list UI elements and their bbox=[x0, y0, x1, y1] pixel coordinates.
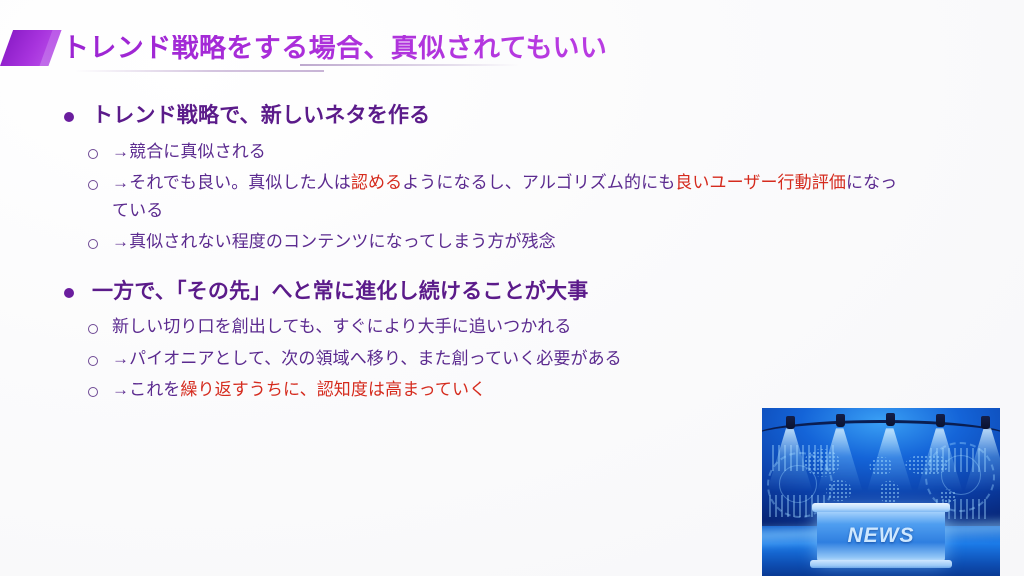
sub-bullet-label: →これを繰り返すうちに、認知度は高まっていく bbox=[112, 376, 486, 404]
sub-bullet-item: →競合に真似される bbox=[58, 138, 958, 166]
sub-bullet-item: →真似されない程度のコンテンツになってしまう方が残念 bbox=[58, 228, 958, 256]
sub-bullet-item: →パイオニアとして、次の領域へ移り、また創っていく必要がある bbox=[58, 345, 958, 373]
sub-bullet-label: 新しい切り口を創出しても、すぐにより大手に追いつかれる bbox=[112, 313, 572, 341]
sub-bullet-ring-icon bbox=[88, 387, 98, 397]
bullet-group-1: トレンド戦略で、新しいネタを作る →競合に真似される →それでも良い。真似した人… bbox=[58, 100, 958, 256]
spotlight-lamp-icon bbox=[786, 416, 795, 429]
sub-bullet-ring-icon bbox=[88, 324, 98, 334]
bullet-heading: 一方で、「その先」へと常に進化し続けることが大事 bbox=[58, 276, 958, 308]
bullet-group-2: 一方で、「その先」へと常に進化し続けることが大事 新しい切り口を創出しても、すぐ… bbox=[58, 276, 958, 404]
bullet-heading-label: 一方で、「その先」へと常に進化し続けることが大事 bbox=[92, 276, 588, 308]
sub-bullet-label: →それでも良い。真似した人は認めるようになるし、アルゴリズム的にも良いユーザー行… bbox=[112, 169, 902, 224]
title-accent-mark bbox=[0, 28, 60, 68]
sub-bullet-item: →それでも良い。真似した人は認めるようになるし、アルゴリズム的にも良いユーザー行… bbox=[58, 169, 958, 224]
bullet-dot-icon bbox=[64, 112, 74, 122]
news-desk: NEWS bbox=[817, 507, 946, 564]
slide-body: トレンド戦略で、新しいネタを作る →競合に真似される →それでも良い。真似した人… bbox=[58, 100, 958, 408]
spotlight-lamp-icon bbox=[836, 414, 845, 427]
sub-bullet-ring-icon bbox=[88, 180, 98, 190]
spotlight-lamp-icon bbox=[936, 414, 945, 427]
sub-bullet-item: →これを繰り返すうちに、認知度は高まっていく bbox=[58, 376, 958, 404]
sub-bullet-ring-icon bbox=[88, 356, 98, 366]
bullet-dot-icon bbox=[64, 288, 74, 298]
news-desk-caption: NEWS bbox=[817, 507, 946, 564]
page-title: トレンド戦略をする場合、真似されてもいい bbox=[62, 35, 607, 62]
bullet-heading: トレンド戦略で、新しいネタを作る bbox=[58, 100, 958, 132]
slide-title-row: トレンド戦略をする場合、真似されてもいい bbox=[0, 22, 1024, 74]
sub-bullet-label: →競合に真似される bbox=[112, 138, 266, 166]
highlight-text: 繰り返すうちに、認知度は高まっていく bbox=[180, 380, 486, 399]
sub-bullet-label: →パイオニアとして、次の領域へ移り、また創っていく必要がある bbox=[112, 345, 622, 373]
highlight-text: 良いユーザー行動評価 bbox=[675, 173, 846, 192]
spotlight-lamp-icon bbox=[981, 416, 990, 429]
title-underline-right bbox=[300, 64, 520, 66]
spotlight-lamp-icon bbox=[886, 413, 895, 426]
slide-canvas: トレンド戦略をする場合、真似されてもいい トレンド戦略で、新しいネタを作る →競… bbox=[0, 0, 1024, 576]
sub-bullet-ring-icon bbox=[88, 149, 98, 159]
news-studio-image: NEWS bbox=[762, 408, 1000, 576]
bullet-heading-label: トレンド戦略で、新しいネタを作る bbox=[92, 100, 430, 132]
sub-bullet-item: 新しい切り口を創出しても、すぐにより大手に追いつかれる bbox=[58, 313, 958, 341]
highlight-text: 認める bbox=[351, 173, 402, 192]
title-underline-left bbox=[74, 70, 324, 72]
sub-bullet-label: →真似されない程度のコンテンツになってしまう方が残念 bbox=[112, 228, 556, 256]
sub-bullet-ring-icon bbox=[88, 239, 98, 249]
